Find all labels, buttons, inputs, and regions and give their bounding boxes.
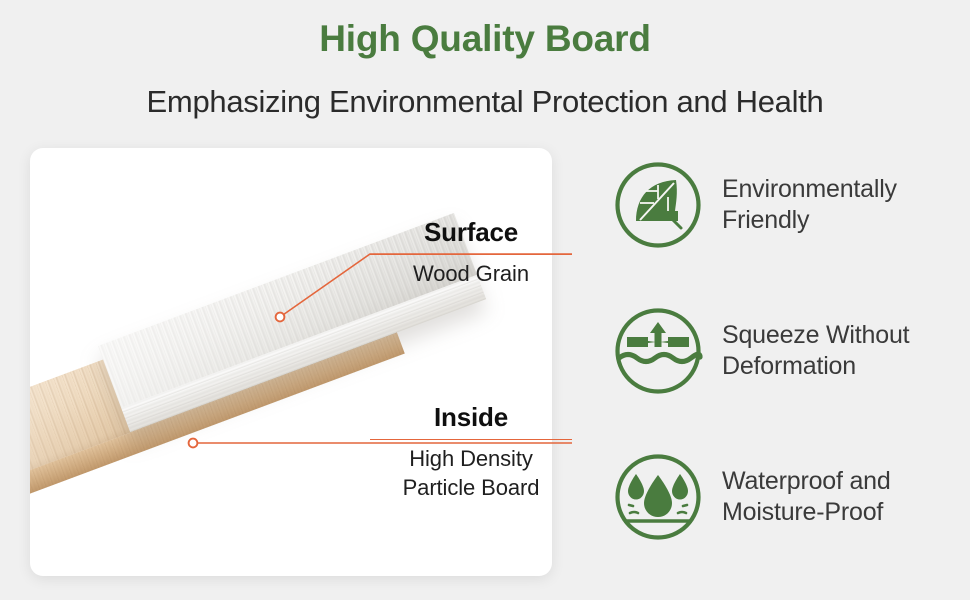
product-photo-stage bbox=[30, 148, 552, 576]
feature-list: Environmentally Friendly bbox=[612, 155, 964, 547]
feature-label-environmentally-friendly: Environmentally Friendly bbox=[722, 174, 897, 237]
squeeze-arrows-icon bbox=[612, 305, 704, 397]
water-droplets-icon bbox=[612, 451, 704, 543]
callout-inside-subtitle-line2: Particle Board bbox=[370, 474, 572, 502]
feature-label-squeeze-without-deformation: Squeeze Without Deformation bbox=[722, 320, 909, 383]
callout-inside-subtitle-line1: High Density bbox=[370, 445, 572, 473]
product-photo-card bbox=[30, 148, 552, 576]
feature-label-line1: Waterproof and bbox=[722, 466, 891, 498]
infographic-poster: High Quality Board Emphasizing Environme… bbox=[0, 0, 970, 600]
feature-label-line1: Squeeze Without bbox=[722, 320, 909, 352]
feature-label-line1: Environmentally bbox=[722, 174, 897, 206]
callout-surface-subtitle: Wood Grain bbox=[370, 260, 572, 288]
page-subtitle: Emphasizing Environmental Protection and… bbox=[0, 83, 970, 120]
feature-label-line2: Friendly bbox=[722, 205, 897, 237]
feature-label-line2: Deformation bbox=[722, 351, 909, 383]
feature-item-waterproof-moisture-proof: Waterproof and Moisture-Proof bbox=[612, 447, 964, 547]
callout-inside-title: Inside bbox=[370, 403, 572, 433]
feature-item-environmentally-friendly: Environmentally Friendly bbox=[612, 155, 964, 255]
page-title: High Quality Board bbox=[0, 18, 970, 61]
callout-surface: Surface Wood Grain bbox=[370, 218, 572, 289]
leaf-icon bbox=[612, 159, 704, 251]
callout-inside-subtitle: High Density Particle Board bbox=[370, 445, 572, 501]
callout-surface-title: Surface bbox=[370, 218, 572, 248]
feature-label-waterproof-moisture-proof: Waterproof and Moisture-Proof bbox=[722, 466, 891, 529]
feature-item-squeeze-without-deformation: Squeeze Without Deformation bbox=[612, 301, 964, 401]
callout-inside-rule bbox=[370, 439, 572, 441]
callout-inside: Inside High Density Particle Board bbox=[370, 403, 572, 502]
callout-surface-rule bbox=[370, 254, 572, 256]
feature-label-line2: Moisture-Proof bbox=[722, 497, 891, 529]
